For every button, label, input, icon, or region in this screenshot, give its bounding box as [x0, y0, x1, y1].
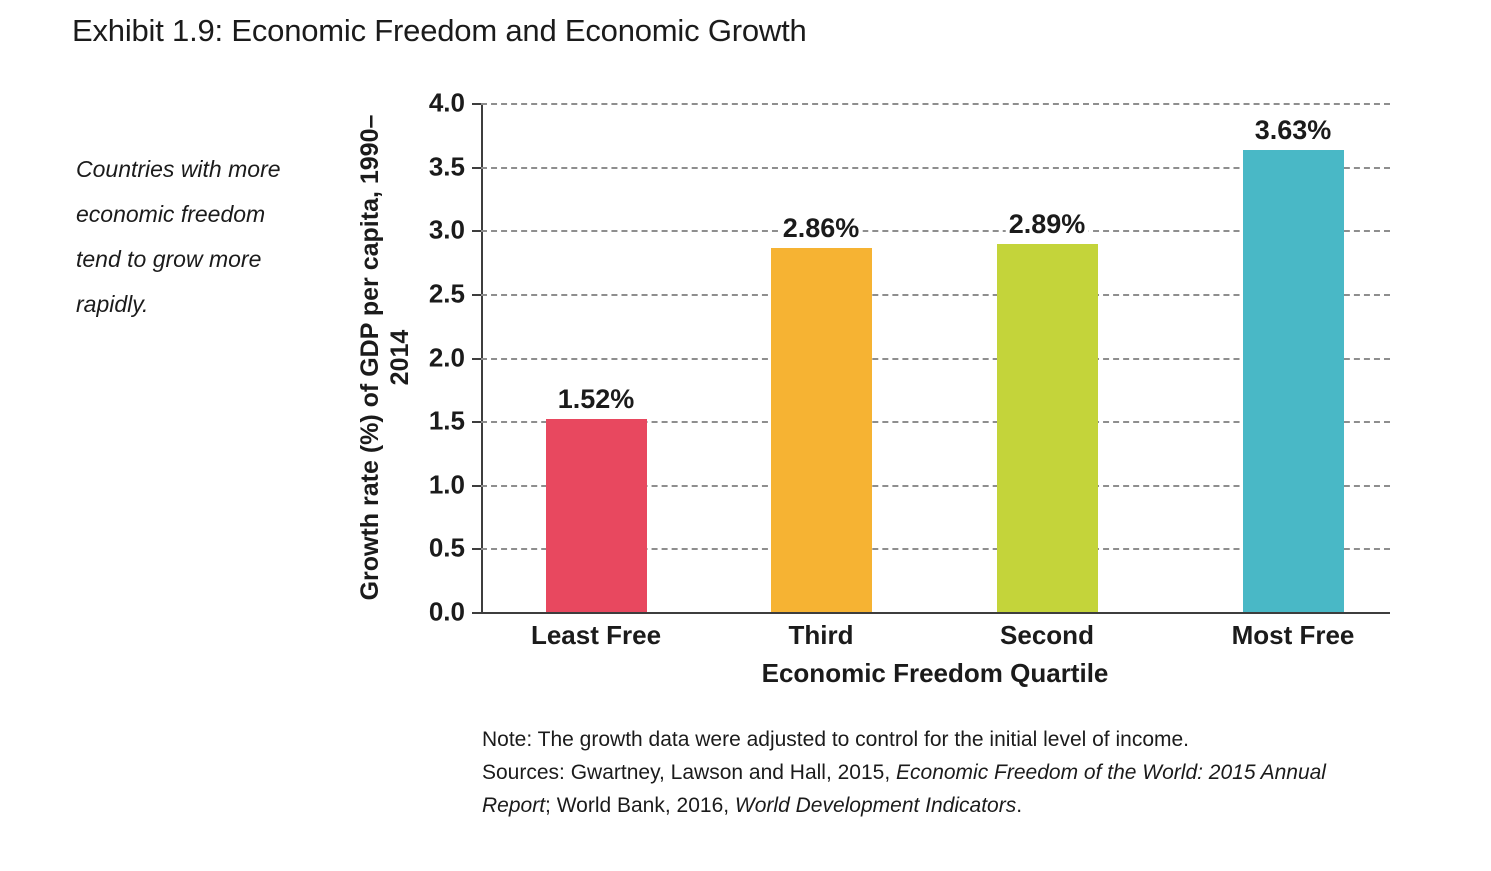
y-axis-tick-label: 4.0 [395, 88, 465, 119]
bar-most-free: 3.63% [1243, 150, 1344, 612]
bar-value-label: 2.86% [780, 213, 863, 244]
y-axis-tick-label: 2.0 [395, 342, 465, 373]
sources-title-2: World Development Indicators [735, 794, 1016, 817]
bar-chart: Growth rate (%) of GDP per capita, 1990–… [0, 0, 1491, 700]
bar-value-label: 2.89% [1006, 209, 1089, 240]
x-axis-title: Economic Freedom Quartile [762, 658, 1109, 689]
note-label: Note: [482, 728, 532, 751]
footnote-sources: Sources: Gwartney, Lawson and Hall, 2015… [482, 756, 1382, 822]
y-axis-tick-label: 0.5 [395, 533, 465, 564]
y-axis-tick [472, 167, 481, 169]
y-axis-tick-label: 1.0 [395, 469, 465, 500]
y-axis-tick [472, 294, 481, 296]
y-axis-tick-label: 3.0 [395, 215, 465, 246]
x-axis-label-least-free: Least Free [531, 620, 661, 651]
x-axis-label-second: Second [1000, 620, 1094, 651]
footnote-note: Note: The growth data were adjusted to c… [482, 723, 1382, 756]
y-axis-tick [472, 421, 481, 423]
bar-second: 2.89% [997, 244, 1098, 612]
axis-baseline [481, 612, 1390, 614]
bar-least-free: 1.52% [546, 419, 647, 612]
bar-third: 2.86% [771, 248, 872, 612]
note-text: The growth data were adjusted to control… [532, 728, 1189, 751]
sources-text-2: ; World Bank, 2016, [545, 794, 735, 817]
y-axis-tick [472, 103, 481, 105]
gridline [481, 103, 1390, 105]
bar-value-label: 3.63% [1252, 115, 1335, 146]
chart-footnotes: Note: The growth data were adjusted to c… [482, 723, 1382, 822]
sources-text-1: Gwartney, Lawson and Hall, 2015, [565, 761, 896, 784]
y-axis-tick [472, 230, 481, 232]
bar-value-label: 1.52% [555, 384, 638, 415]
y-axis-tick [472, 485, 481, 487]
x-axis-label-most-free: Most Free [1232, 620, 1355, 651]
y-axis-tick-labels: 0.00.51.01.52.02.53.03.54.0 [395, 103, 465, 612]
y-axis-tick [472, 612, 481, 614]
y-axis-tick [472, 548, 481, 550]
x-axis-label-third: Third [789, 620, 854, 651]
y-axis-tick-label: 2.5 [395, 278, 465, 309]
y-axis-tick-label: 0.0 [395, 597, 465, 628]
y-axis-tick [472, 358, 481, 360]
y-axis-tick-label: 1.5 [395, 406, 465, 437]
y-axis-tick-label: 3.5 [395, 151, 465, 182]
sources-end: . [1016, 794, 1022, 817]
plot-area: 1.52%2.86%2.89%3.63% [481, 103, 1390, 612]
sources-label: Sources: [482, 761, 565, 784]
